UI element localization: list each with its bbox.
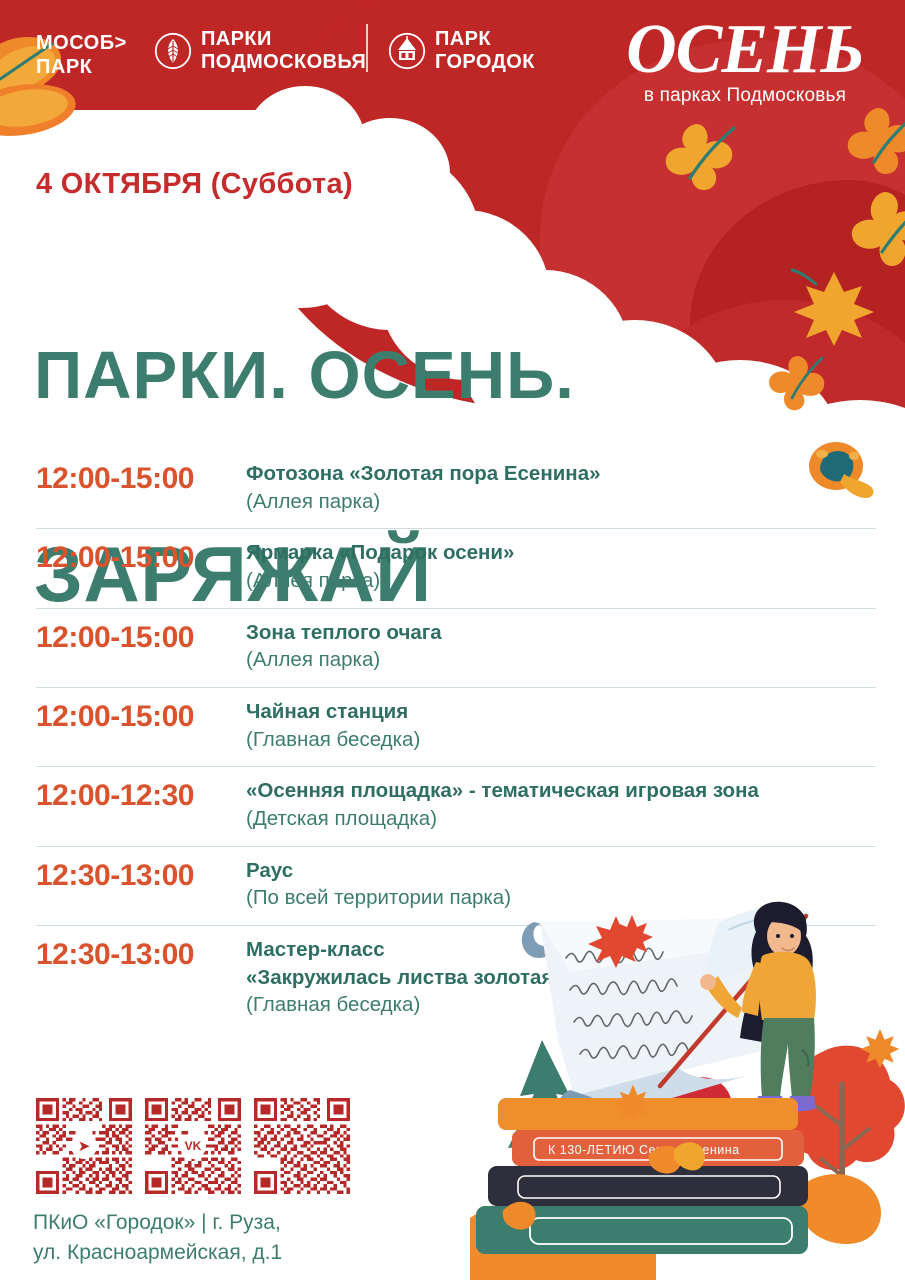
schedule-place: (Главная беседка): [246, 991, 876, 1019]
autumn-leaf-icon: [0, 72, 90, 142]
qr-vk[interactable]: VK: [145, 1098, 241, 1194]
qr-plain[interactable]: [254, 1098, 350, 1194]
schedule-time: 12:00-15:00: [36, 539, 236, 577]
maple-leaf-icon: [858, 1026, 902, 1070]
schedule-title: Чайная станция: [246, 698, 876, 726]
schedule-body: Раус (По всей территории парка): [236, 857, 876, 912]
vk-icon: VK: [180, 1133, 206, 1159]
schedule-time: 12:30-13:00: [36, 936, 236, 974]
season-logo-tagline: в парках Подмосковья: [600, 85, 890, 108]
park-gorodok-line2: ГОРОДОК: [435, 51, 535, 74]
oak-leaf-icon: [764, 352, 834, 414]
mosobl-park-logo[interactable]: МОСОБ> ПАРК: [36, 32, 127, 79]
schedule-row: 12:30-13:00 Мастер-класс «Закружилась ли…: [36, 925, 876, 1032]
scallop-bite: [640, 360, 840, 430]
schedule-title: Раус: [246, 857, 876, 885]
headline-line-1: ПАРКИ. ОСЕНЬ.: [34, 344, 575, 408]
schedule-body: Мастер-класс «Закружилась листва золотая…: [236, 936, 876, 1019]
event-date: 4 ОКТЯБРЯ (Суббота): [36, 168, 353, 201]
autumn-leaf-icon: [832, 104, 905, 180]
schedule-title: «Осенняя площадка» - тематическая игрова…: [246, 777, 876, 805]
schedule-time: 12:00-15:00: [36, 460, 236, 498]
red-blob-d: [620, 300, 905, 430]
parki-podmoskovya-logo[interactable]: ПАРКИ ПОДМОСКОВЬЯ: [154, 28, 366, 74]
schedule-list: 12:00-15:00 Фотозона «Золотая пора Есени…: [36, 450, 876, 1032]
schedule-row: 12:00-12:30 «Осенняя площадка» - тематич…: [36, 766, 876, 845]
schedule-body: Чайная станция (Главная беседка): [236, 698, 876, 753]
schedule-title-2: «Закружилась листва золотая»: [246, 964, 876, 992]
book-spine-label: К 130-ЛЕТИЮ Сергея Есенина: [548, 1143, 740, 1157]
parki-podmoskovya-line1: ПАРКИ: [201, 28, 366, 51]
schedule-time: 12:00-12:30: [36, 777, 236, 815]
schedule-time: 12:30-13:00: [36, 857, 236, 895]
schedule-row: 12:00-15:00 Зона теплого очага (Аллея па…: [36, 608, 876, 687]
schedule-body: «Осенняя площадка» - тематическая игрова…: [236, 777, 876, 832]
maple-leaf-icon: [612, 1082, 654, 1124]
pavilion-circle-icon: [388, 32, 426, 70]
schedule-title: Зона теплого очага: [246, 619, 876, 647]
schedule-title: Ярмарка «Подарок осени»: [246, 539, 876, 567]
logo-divider: [366, 24, 368, 72]
schedule-row: 12:00-15:00 Чайная станция (Главная бесе…: [36, 687, 876, 766]
mosobl-park-logo-line2: ПАРК: [36, 56, 127, 80]
qr-telegram[interactable]: ➤: [36, 1098, 132, 1194]
season-logo: ОСЕНЬ в парках Подмосковья: [600, 16, 890, 108]
leaf-circle-icon: [154, 32, 192, 70]
autumn-leaf-icon: [838, 188, 905, 272]
schedule-place: (По всей территории парка): [246, 884, 876, 912]
telegram-icon: ➤: [71, 1133, 97, 1159]
schedule-title: Фотозона «Золотая пора Есенина»: [246, 460, 876, 488]
schedule-place: (Детская площадка): [246, 805, 876, 833]
qr-code-strip: ➤: [36, 1098, 350, 1194]
schedule-row: 12:00-15:00 Фотозона «Золотая пора Есени…: [36, 450, 876, 528]
schedule-time: 12:00-15:00: [36, 698, 236, 736]
schedule-time: 12:00-15:00: [36, 619, 236, 657]
schedule-place: (Главная беседка): [246, 726, 876, 754]
mosobl-park-logo-line1: МОСОБ>: [36, 32, 127, 56]
schedule-place: (Аллея парка): [246, 567, 876, 595]
schedule-body: Зона теплого очага (Аллея парка): [236, 619, 876, 674]
venue-address: ПКиО «Городок» | г. Руза, ул. Красноарме…: [33, 1208, 282, 1268]
schedule-body: Ярмарка «Подарок осени» (Аллея парка): [236, 539, 876, 594]
poster-root: МОСОБ> ПАРК ПАРКИ ПОДМОСКОВЬЯ ПАРК ГОРОД…: [0, 0, 905, 1280]
schedule-place: (Аллея парка): [246, 488, 876, 516]
autumn-leaf-icon: [652, 120, 742, 196]
red-blob-c: [690, 180, 905, 430]
schedule-title: Мастер-класс: [246, 936, 876, 964]
scallop-bite: [760, 400, 905, 430]
schedule-row: 12:30-13:00 Раус (По всей территории пар…: [36, 846, 876, 925]
maple-leaf-icon: [786, 262, 882, 350]
park-gorodok-logo[interactable]: ПАРК ГОРОДОК: [388, 28, 535, 74]
schedule-row: 12:00-15:00 Ярмарка «Подарок осени» (Алл…: [36, 528, 876, 607]
schedule-place: (Аллея парка): [246, 646, 876, 674]
season-logo-word: ОСЕНЬ: [600, 16, 890, 83]
schedule-body: Фотозона «Золотая пора Есенина» (Аллея п…: [236, 460, 876, 515]
parki-podmoskovya-line2: ПОДМОСКОВЬЯ: [201, 51, 366, 74]
park-gorodok-line1: ПАРК: [435, 28, 535, 51]
